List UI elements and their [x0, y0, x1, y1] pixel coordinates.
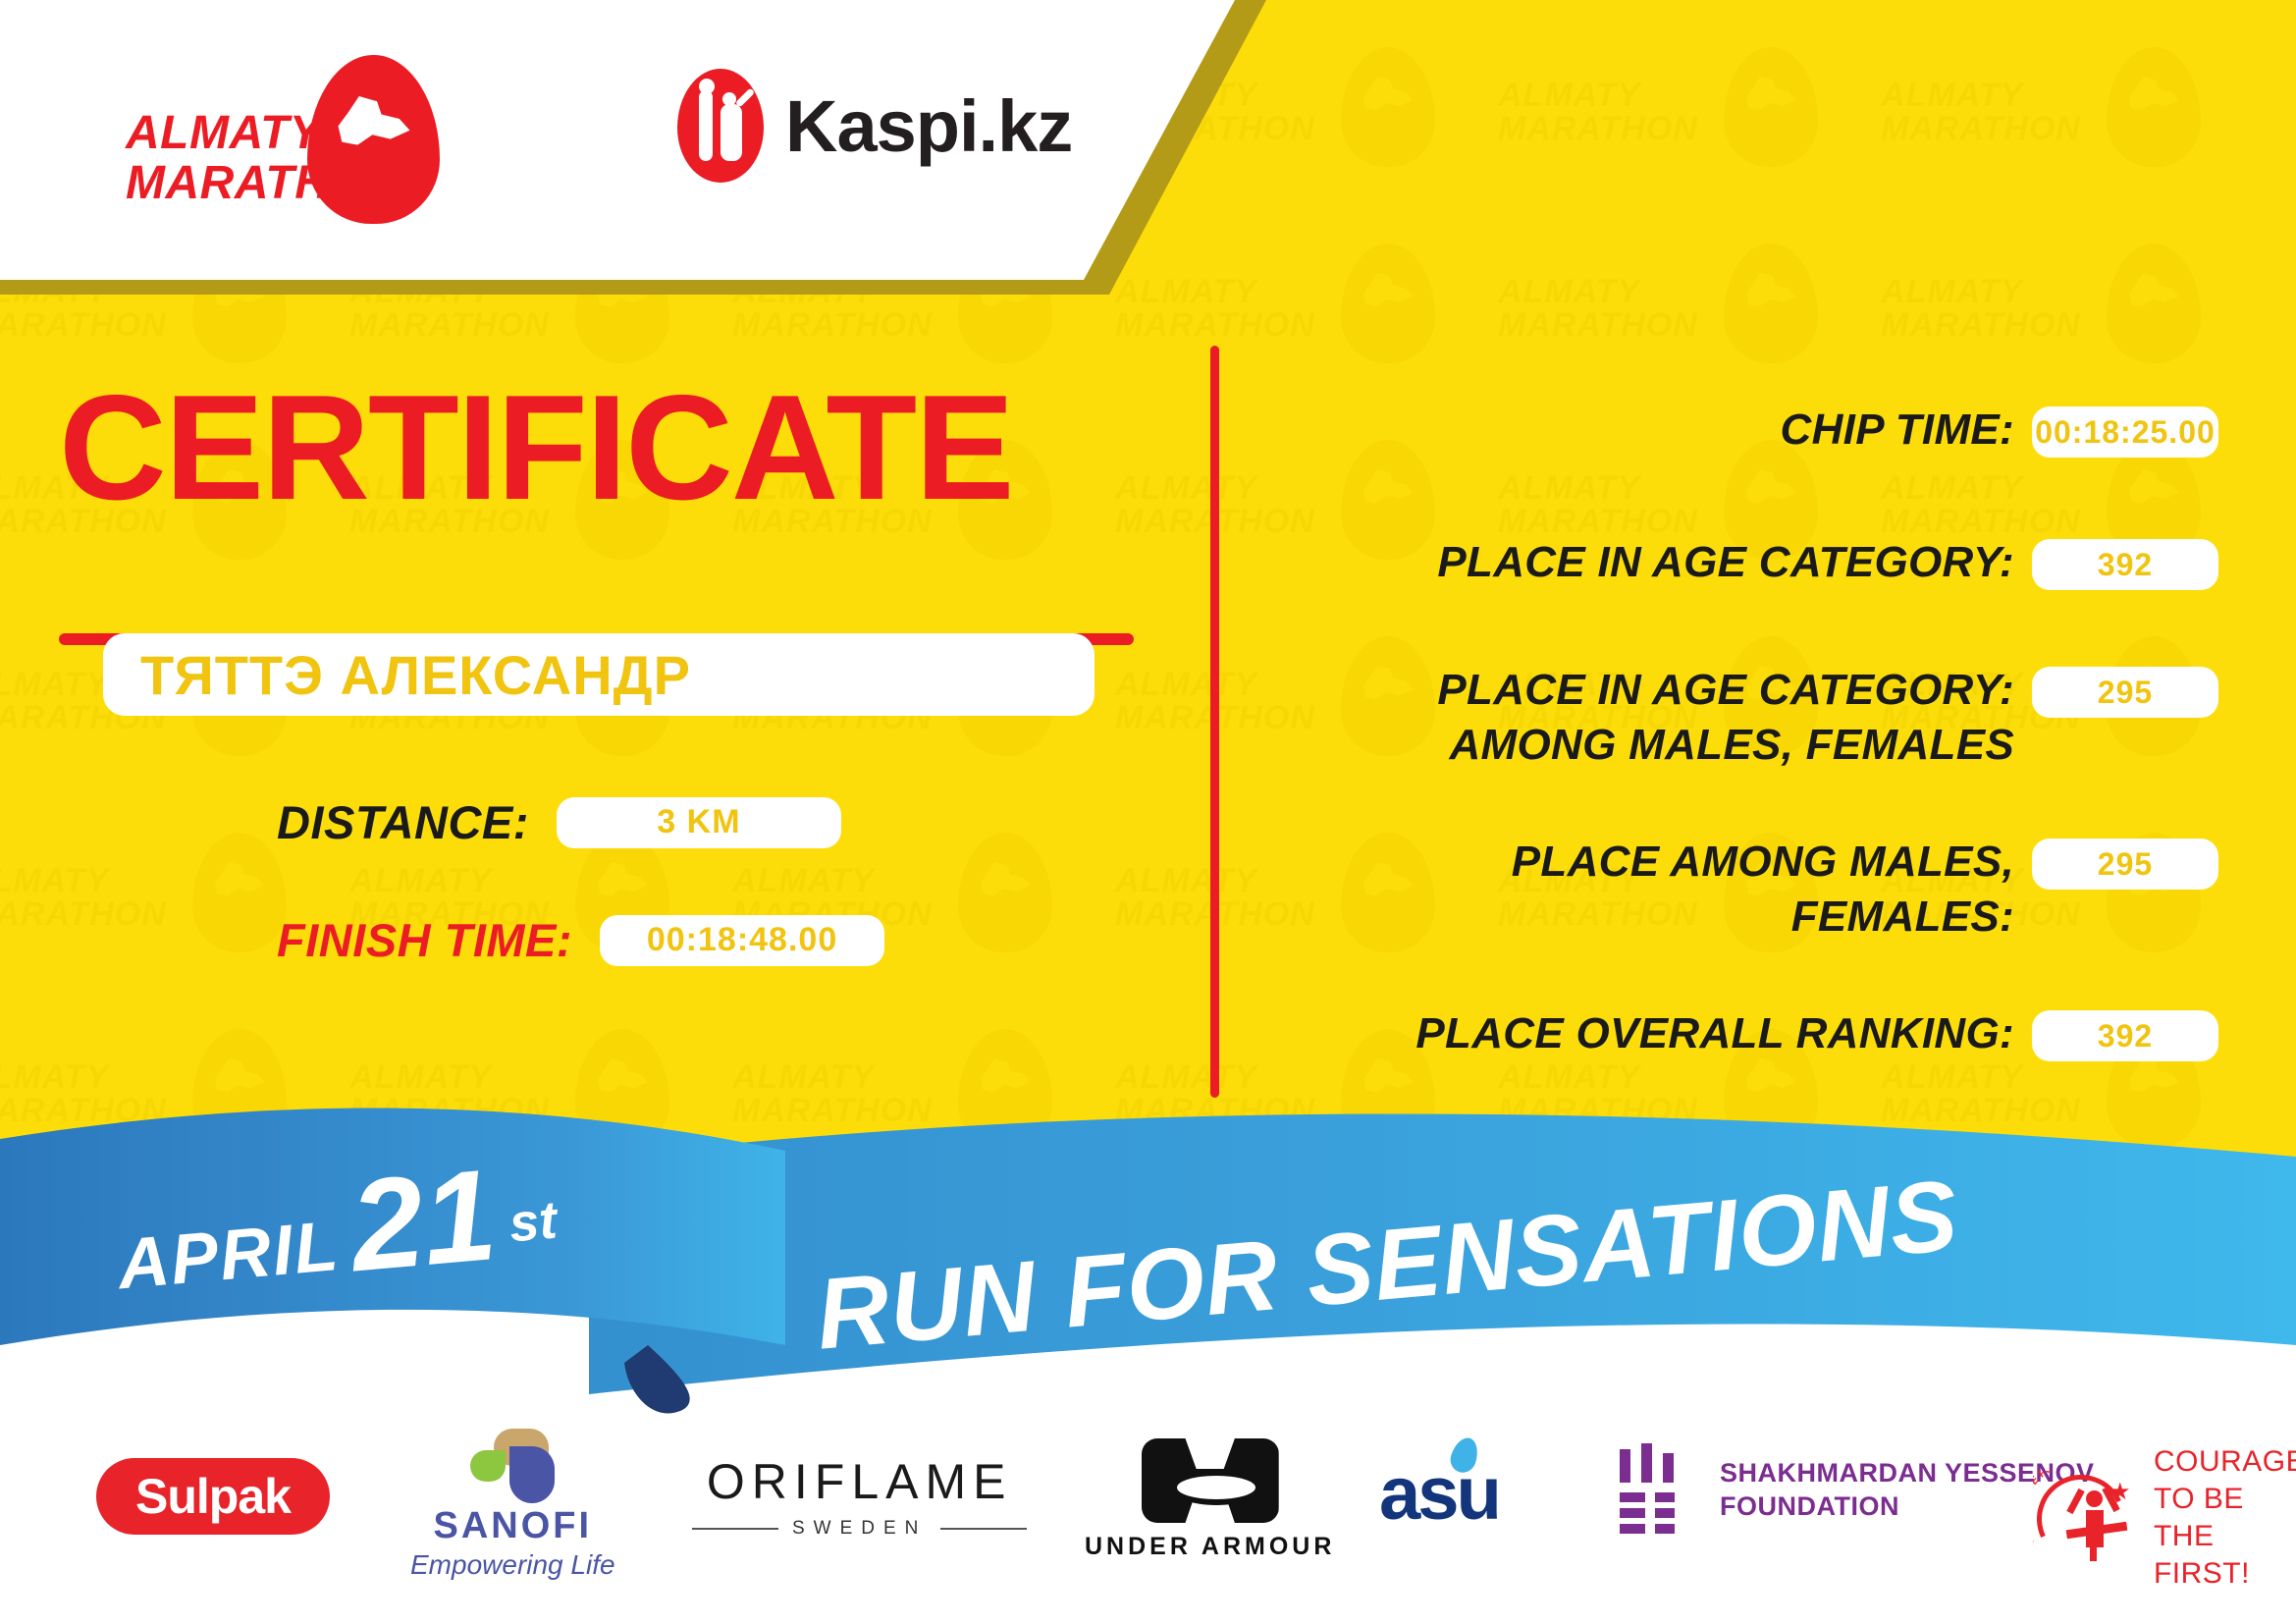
cf-figure-icon: ★: [2070, 1483, 2125, 1559]
event-day: 21: [347, 1157, 501, 1284]
stat-value-pill: 392: [2032, 539, 2218, 590]
sponsor-yessenov-foundation: SHAKHMARDAN YESSENOV FOUNDATION: [1620, 1443, 2095, 1536]
oriflame-rule-right: [940, 1528, 1027, 1530]
stat-label: PLACE OVERALL RANKING:: [1266, 1006, 2032, 1061]
watermark-text: ALMATYMARATHON: [1498, 275, 1698, 342]
stat-label: PLACE AMONG MALES,FEMALES:: [1266, 835, 2032, 945]
sanofi-tagline: Empowering Life: [410, 1549, 615, 1581]
cf-leg: [2090, 1543, 2097, 1561]
watermark-tile: ALMATYMARATHON: [1492, 39, 1875, 236]
oriflame-country: SWEDEN: [792, 1518, 927, 1540]
sanofi-wordmark: SANOFI: [434, 1505, 593, 1547]
under-armour-wordmark: UNDER ARMOUR: [1085, 1533, 1335, 1561]
watermark-tile: ALMATYMARATHON: [1875, 432, 2258, 628]
yes-bar-5: [1655, 1492, 1675, 1502]
yes-bar-3: [1663, 1453, 1674, 1483]
kaspi-people-icon: [677, 69, 764, 183]
kaspi-head-2: [722, 92, 736, 106]
sponsor-asu: asu: [1379, 1451, 1499, 1537]
cf-star-icon: ★: [2109, 1481, 2131, 1504]
sanofi-shape-green: [470, 1450, 506, 1482]
sulpak-wordmark: Sulpak: [135, 1469, 291, 1524]
kaspi-logo: Kaspi.kz: [677, 67, 1072, 185]
row-distance: DISTANCE: 3 KM: [277, 795, 841, 849]
almaty-marathon-logo: ALMATY MARATHON: [126, 61, 450, 208]
stat-value: 295: [2098, 846, 2153, 883]
oriflame-wordmark: ORIFLAME: [707, 1453, 1013, 1510]
kaspi-head-1: [699, 79, 715, 94]
stat-value: 392: [2098, 1018, 2153, 1055]
watermark-tile: ALMATYMARATHON: [1492, 432, 1875, 628]
under-armour-icon: [1142, 1438, 1279, 1523]
stat-row-place-age-category-among: PLACE IN AGE CATEGORY:AMONG MALES, FEMAL…: [1266, 663, 2218, 773]
yes-bar-9: [1655, 1524, 1675, 1534]
certificate-page: ALMATYMARATHONALMATYMARATHONALMATYMARATH…: [0, 0, 2296, 1624]
column-divider: [1210, 346, 1219, 1098]
watermark-text: ALMATYMARATHON: [1881, 79, 2081, 145]
almaty-marathon-wordmark: ALMATY MARATHON: [126, 108, 400, 208]
distance-label: DISTANCE:: [277, 795, 529, 849]
finish-time-label: FINISH TIME:: [277, 913, 572, 967]
watermark-text: ALMATYMARATHON: [0, 864, 167, 931]
asu-logo: asu: [1379, 1451, 1499, 1537]
stat-row-place-overall-ranking: PLACE OVERALL RANKING: 392: [1266, 1006, 2218, 1061]
row-finish-time: FINISH TIME: 00:18:48.00: [277, 913, 884, 967]
stat-row-chip-time: CHIP TIME: 00:18:25.00: [1266, 403, 2218, 458]
stat-label: PLACE IN AGE CATEGORY:AMONG MALES, FEMAL…: [1266, 663, 2032, 773]
ua-ellipse: [1171, 1470, 1261, 1505]
sponsor-sanofi: SANOFI Empowering Life: [410, 1429, 615, 1581]
yes-bar-6: [1620, 1508, 1645, 1518]
sponsor-sulpak: Sulpak: [96, 1458, 330, 1535]
yes-bar-7: [1655, 1508, 1675, 1518]
page-title: CERTIFICATE: [59, 373, 1013, 522]
watermark-runner-icon: [192, 833, 287, 952]
watermark-runner-icon: [1724, 244, 1818, 363]
watermark-text: ALMATYMARATHON: [1498, 79, 1698, 145]
watermark-runner-icon: [2107, 244, 2201, 363]
stat-value: 392: [2098, 547, 2153, 583]
watermark-text: ALMATYMARATHON: [1115, 275, 1315, 342]
stat-label: PLACE IN AGE CATEGORY:: [1266, 535, 2032, 590]
sulpak-logo: Sulpak: [96, 1458, 330, 1535]
oriflame-subline: SWEDEN: [692, 1518, 1027, 1540]
asu-wordmark: asu: [1379, 1451, 1499, 1537]
yes-bar-1: [1620, 1449, 1630, 1483]
watermark-runner-icon: [1724, 47, 1818, 167]
svg-text:CORPORATE FUND: CORPORATE FUND: [2033, 1471, 2069, 1547]
sponsor-corporate-fund: CORPORATE FUND ★ COURAGE TO BE THE FIRST…: [2037, 1443, 2296, 1593]
brand-line1: ALMATY: [126, 108, 400, 158]
athlete-name-field: ТЯТТЭ АЛЕКСАНДР: [103, 633, 1095, 716]
stat-value-pill: 295: [2032, 839, 2218, 890]
cf-line-3: THE FIRST!: [2154, 1518, 2296, 1593]
sanofi-shape-blue: [509, 1446, 555, 1503]
watermark-text: ALMATYMARATHON: [1881, 471, 2081, 538]
corporate-fund-wordmark: COURAGE TO BE THE FIRST!: [2154, 1443, 2296, 1593]
watermark-text: ALMATYMARATHON: [1498, 471, 1698, 538]
athlete-name-value: ТЯТТЭ АЛЕКСАНДР: [140, 643, 691, 707]
sponsor-oriflame: ORIFLAME SWEDEN: [692, 1453, 1027, 1540]
finish-time-value: 00:18:48.00: [647, 921, 837, 959]
yes-bar-8: [1620, 1524, 1645, 1534]
yes-bar-2: [1641, 1443, 1652, 1483]
yessenov-foundation-icon: [1620, 1443, 1694, 1536]
stat-row-place-among-males-females: PLACE AMONG MALES,FEMALES: 295: [1266, 835, 2218, 945]
kaspi-wordmark: Kaspi.kz: [785, 84, 1072, 168]
oriflame-rule-left: [692, 1528, 778, 1530]
cf-line-1: COURAGE: [2154, 1443, 2296, 1481]
stat-value-pill: 295: [2032, 667, 2218, 718]
event-day-ordinal: st: [506, 1173, 561, 1272]
yes-bar-4: [1620, 1492, 1645, 1502]
watermark-text: ALMATYMARATHON: [1881, 275, 2081, 342]
cf-line-2: TO BE: [2154, 1481, 2296, 1518]
stat-value-pill: 392: [2032, 1010, 2218, 1061]
cf-arm-left: [2066, 1489, 2084, 1514]
cf-head: [2086, 1490, 2103, 1507]
watermark-runner-icon: [958, 833, 1052, 952]
brand-line2: MARATHON: [126, 158, 400, 208]
stat-value-pill: 00:18:25.00: [2032, 406, 2218, 458]
watermark-runner-icon: [1341, 47, 1435, 167]
watermark-runner-icon: [1341, 244, 1435, 363]
watermark-tile: ALMATYMARATHON: [1109, 432, 1492, 628]
watermark-tile: ALMATYMARATHON: [1875, 39, 2258, 236]
stat-label: CHIP TIME:: [1266, 403, 2032, 458]
stat-row-place-age-category: PLACE IN AGE CATEGORY: 392: [1266, 535, 2218, 590]
distance-value-pill: 3 KM: [557, 797, 841, 848]
watermark-runner-icon: [2107, 47, 2201, 167]
stat-value: 00:18:25.00: [2035, 414, 2216, 451]
event-ribbon: APRIL 21 st RUN FOR SENSATIONS: [0, 1100, 2296, 1424]
distance-value: 3 KM: [657, 803, 740, 841]
corporate-fund-icon: CORPORATE FUND ★: [2037, 1469, 2134, 1567]
sponsor-under-armour: UNDER ARMOUR: [1085, 1438, 1335, 1561]
stat-value: 295: [2098, 675, 2153, 711]
sanofi-logo: [468, 1429, 557, 1501]
finish-time-value-pill: 00:18:48.00: [600, 915, 884, 966]
kaspi-arm: [735, 87, 756, 108]
